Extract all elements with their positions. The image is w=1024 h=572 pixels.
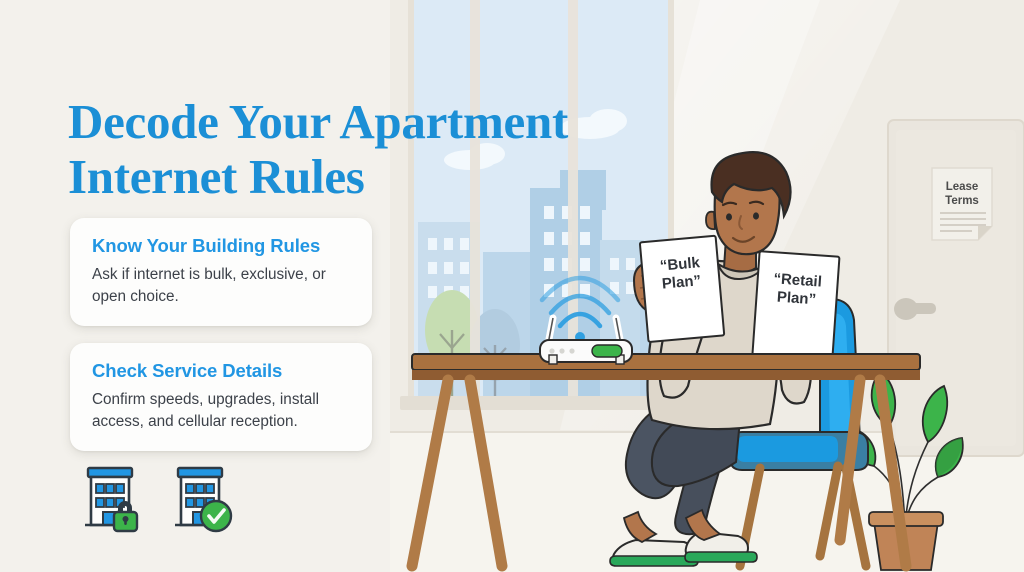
building-status-icon-row (78, 462, 236, 534)
card-body: Ask if internet is bulk, exclusive, or o… (92, 264, 350, 307)
door-handle-bar (906, 303, 936, 314)
chair-seat-cushion (737, 436, 838, 462)
plant-pot-rim (869, 512, 943, 526)
bulk-plan-paper[interactable]: “Bulk Plan” (640, 236, 724, 342)
page-title: Decode Your Apartment Internet Rules (68, 95, 668, 205)
lease-doc-line2: Terms (945, 195, 979, 207)
card-title: Know Your Building Rules (92, 235, 350, 256)
retail-plan-line2: Plan” (776, 289, 816, 309)
page-title-line-2: Internet Rules (68, 150, 668, 205)
card-check-service-details[interactable]: Check Service Details Confirm speeds, up… (70, 343, 372, 451)
router-indicator-dots (549, 348, 574, 353)
person-eye-right (753, 212, 759, 219)
router-foot (549, 355, 557, 364)
building-locked-icon[interactable] (78, 462, 146, 534)
bulk-plan-line1: “Bulk (659, 254, 701, 274)
bulk-plan-line2: Plan” (661, 272, 702, 292)
card-title: Check Service Details (92, 360, 350, 381)
check-circle-icon (201, 501, 231, 531)
router-status-led (592, 345, 622, 357)
desk-top (412, 354, 920, 370)
building-approved-icon[interactable] (168, 462, 236, 534)
person-eye-left (726, 213, 732, 220)
lease-doc-line1: Lease (946, 181, 979, 193)
infographic-canvas: Lease Terms (0, 0, 1024, 572)
building-roof (88, 468, 132, 477)
person-ear (706, 212, 715, 229)
retail-plan-line1: “Retail (773, 270, 822, 290)
desk-edge (412, 370, 920, 380)
retail-plan-paper[interactable]: “Retail Plan” (752, 251, 839, 360)
card-know-your-building-rules[interactable]: Know Your Building Rules Ask if internet… (70, 218, 372, 326)
card-body: Confirm speeds, upgrades, install access… (92, 389, 350, 432)
lease-terms-document[interactable]: Lease Terms (932, 168, 992, 240)
page-title-line-1: Decode Your Apartment (68, 95, 668, 150)
building-roof (178, 468, 222, 477)
